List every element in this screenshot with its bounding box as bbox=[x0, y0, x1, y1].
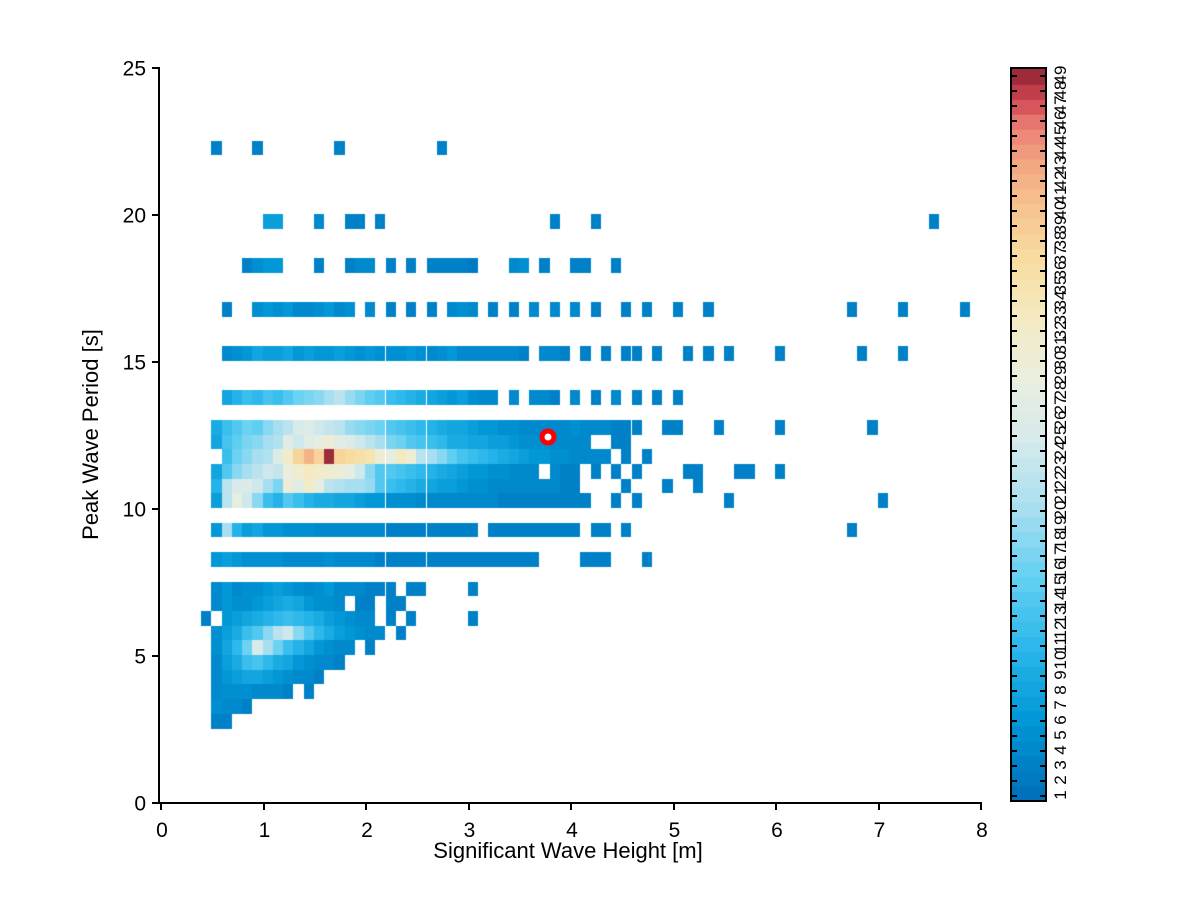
colorbar-tick bbox=[1040, 270, 1047, 272]
colorbar-tick bbox=[1010, 300, 1017, 302]
y-tick: 25 bbox=[152, 67, 160, 69]
y-tick-label: 15 bbox=[123, 353, 146, 374]
colorbar-tick bbox=[1040, 585, 1047, 587]
colorbar-tick bbox=[1010, 405, 1017, 407]
colorbar-tick bbox=[1040, 345, 1047, 347]
colorbar-tick bbox=[1040, 645, 1047, 647]
colorbar-tick bbox=[1040, 495, 1047, 497]
colorbar-tick bbox=[1040, 780, 1047, 782]
colorbar-tick bbox=[1010, 675, 1017, 677]
colorbar-tick bbox=[1010, 495, 1017, 497]
colorbar-tick bbox=[1040, 360, 1047, 362]
colorbar-tick bbox=[1040, 705, 1047, 707]
colorbar-tick bbox=[1040, 555, 1047, 557]
colorbar-tick bbox=[1010, 645, 1017, 647]
colorbar-tick bbox=[1010, 750, 1017, 752]
colorbar-tick bbox=[1040, 720, 1047, 722]
y-tick-label: 0 bbox=[134, 794, 146, 815]
colorbar-tick bbox=[1010, 720, 1017, 722]
colorbar-tick bbox=[1040, 465, 1047, 467]
y-axis-title: Peak Wave Period [s] bbox=[78, 67, 112, 802]
colorbar-tick bbox=[1010, 270, 1017, 272]
colorbar-tick bbox=[1010, 285, 1017, 287]
colorbar-tick bbox=[1010, 780, 1017, 782]
colorbar-tick-label: 6 bbox=[1052, 715, 1069, 724]
y-tick: 5 bbox=[152, 655, 160, 657]
colorbar-tick bbox=[1010, 765, 1017, 767]
colorbar-tick bbox=[1010, 630, 1017, 632]
colorbar-tick bbox=[1040, 195, 1047, 197]
colorbar-tick bbox=[1010, 555, 1017, 557]
colorbar-tick bbox=[1040, 135, 1047, 137]
colorbar-tick bbox=[1040, 180, 1047, 182]
colorbar-tick-label: 7 bbox=[1052, 700, 1069, 709]
y-tick: 15 bbox=[152, 361, 160, 363]
colorbar-tick bbox=[1040, 735, 1047, 737]
colorbar-tick bbox=[1040, 615, 1047, 617]
colorbar-tick bbox=[1040, 750, 1047, 752]
colorbar-tick bbox=[1040, 300, 1047, 302]
colorbar-tick bbox=[1010, 465, 1017, 467]
y-tick-label: 5 bbox=[134, 647, 146, 668]
x-axis-title: Significant Wave Height [m] bbox=[158, 838, 978, 864]
colorbar-tick bbox=[1010, 510, 1017, 512]
y-tick-label: 20 bbox=[123, 206, 146, 227]
colorbar-tick bbox=[1010, 450, 1017, 452]
figure-canvas: 0510152025 012345678 Significant Wave He… bbox=[0, 0, 1200, 901]
colorbar-tick bbox=[1010, 435, 1017, 437]
colorbar-tick bbox=[1040, 330, 1047, 332]
x-tick: 4 bbox=[570, 802, 572, 810]
colorbar-tick bbox=[1040, 90, 1047, 92]
colorbar-tick bbox=[1010, 660, 1017, 662]
colorbar-tick bbox=[1010, 195, 1017, 197]
colorbar-tick bbox=[1010, 135, 1017, 137]
y-tick: 0 bbox=[152, 802, 160, 804]
colorbar-tick-label: 49 bbox=[1052, 65, 1069, 84]
colorbar-tick bbox=[1040, 210, 1047, 212]
colorbar-tick bbox=[1010, 255, 1017, 257]
colorbar-tick-label: 9 bbox=[1052, 670, 1069, 679]
x-tick: 6 bbox=[775, 802, 777, 810]
colorbar-tick bbox=[1010, 90, 1017, 92]
colorbar-tick bbox=[1010, 75, 1017, 77]
colorbar-tick bbox=[1040, 285, 1047, 287]
x-tick: 8 bbox=[980, 802, 982, 810]
colorbar-tick bbox=[1040, 600, 1047, 602]
colorbar-tick bbox=[1040, 240, 1047, 242]
y-tick: 20 bbox=[152, 214, 160, 216]
colorbar-tick bbox=[1040, 315, 1047, 317]
heatmap-plot-area[interactable]: 0510152025 012345678 bbox=[158, 67, 980, 804]
colorbar-tick bbox=[1010, 420, 1017, 422]
colorbar-tick bbox=[1010, 210, 1017, 212]
colorbar-tick bbox=[1010, 165, 1017, 167]
colorbar-tick bbox=[1010, 345, 1017, 347]
colorbar-tick bbox=[1040, 525, 1047, 527]
colorbar-tick bbox=[1010, 570, 1017, 572]
x-tick: 0 bbox=[160, 802, 162, 810]
colorbar-tick bbox=[1040, 765, 1047, 767]
colorbar-tick bbox=[1040, 660, 1047, 662]
colorbar-tick bbox=[1010, 585, 1017, 587]
colorbar-tick-label: 1 bbox=[1052, 790, 1069, 799]
colorbar-tick bbox=[1040, 510, 1047, 512]
colorbar-tick bbox=[1040, 435, 1047, 437]
colorbar-tick bbox=[1040, 165, 1047, 167]
sea-state-marker[interactable] bbox=[540, 429, 557, 446]
colorbar-tick bbox=[1040, 225, 1047, 227]
colorbar-tick bbox=[1040, 255, 1047, 257]
x-tick: 2 bbox=[365, 802, 367, 810]
colorbar-tick-label: 3 bbox=[1052, 760, 1069, 769]
colorbar-tick bbox=[1040, 540, 1047, 542]
colorbar-tick bbox=[1010, 240, 1017, 242]
colorbar-tick bbox=[1040, 405, 1047, 407]
colorbar-tick bbox=[1010, 690, 1017, 692]
y-tick: 10 bbox=[152, 508, 160, 510]
colorbar-tick bbox=[1010, 390, 1017, 392]
colorbar-tick bbox=[1040, 630, 1047, 632]
colorbar-tick bbox=[1010, 705, 1017, 707]
colorbar-tick bbox=[1040, 105, 1047, 107]
colorbar-tick-label: 5 bbox=[1052, 730, 1069, 739]
colorbar-tick bbox=[1010, 315, 1017, 317]
colorbar-tick bbox=[1010, 330, 1017, 332]
colorbar-tick bbox=[1040, 375, 1047, 377]
colorbar-tick bbox=[1010, 150, 1017, 152]
colorbar-tick bbox=[1010, 375, 1017, 377]
colorbar-tick bbox=[1040, 480, 1047, 482]
colorbar-tick bbox=[1010, 480, 1017, 482]
colorbar-tick bbox=[1010, 735, 1017, 737]
y-tick-label: 25 bbox=[123, 59, 146, 80]
colorbar-tick bbox=[1010, 120, 1017, 122]
colorbar-tick bbox=[1040, 450, 1047, 452]
x-tick: 5 bbox=[673, 802, 675, 810]
colorbar-tick bbox=[1040, 675, 1047, 677]
colorbar-tick bbox=[1010, 525, 1017, 527]
heatmap-cells[interactable] bbox=[160, 67, 980, 802]
x-tick: 1 bbox=[263, 802, 265, 810]
x-tick: 7 bbox=[878, 802, 880, 810]
colorbar-tick bbox=[1040, 120, 1047, 122]
colorbar-tick bbox=[1010, 225, 1017, 227]
colorbar-tick bbox=[1040, 75, 1047, 77]
colorbar-tick bbox=[1040, 420, 1047, 422]
colorbar-tick bbox=[1010, 600, 1017, 602]
colorbar-tick bbox=[1040, 150, 1047, 152]
y-tick-label: 10 bbox=[123, 500, 146, 521]
colorbar-tick-label: 2 bbox=[1052, 775, 1069, 784]
colorbar-tick bbox=[1040, 690, 1047, 692]
colorbar-tick bbox=[1040, 390, 1047, 392]
colorbar-tick bbox=[1010, 540, 1017, 542]
colorbar-tick bbox=[1010, 105, 1017, 107]
colorbar-tick bbox=[1010, 795, 1017, 797]
colorbar-tick bbox=[1010, 360, 1017, 362]
colorbar-tick bbox=[1010, 615, 1017, 617]
colorbar-tick bbox=[1010, 180, 1017, 182]
colorbar-tick bbox=[1040, 570, 1047, 572]
colorbar-tick bbox=[1040, 795, 1047, 797]
colorbar-tick-label: 8 bbox=[1052, 685, 1069, 694]
colorbar-tick-label: 4 bbox=[1052, 745, 1069, 754]
x-tick: 3 bbox=[468, 802, 470, 810]
